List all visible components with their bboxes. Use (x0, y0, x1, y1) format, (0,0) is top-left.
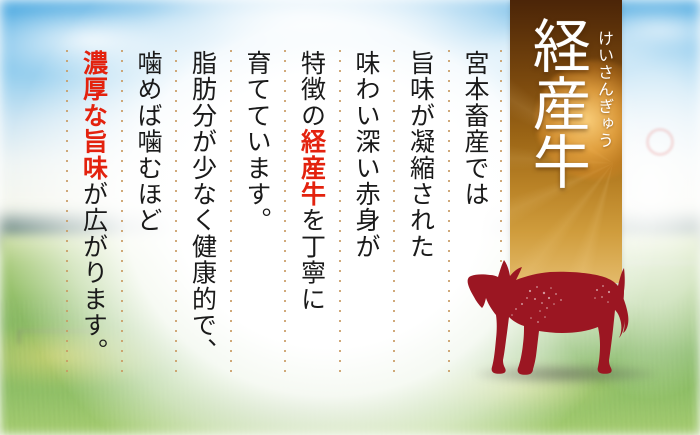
title-kanji: 経産牛 (524, 16, 590, 190)
copy-column-8-highlight: 濃厚な旨味 (80, 50, 109, 181)
copy-column-8-part-2: が広がります。 (80, 181, 109, 364)
copy-column-7: 噛めば噛むほど (121, 50, 176, 380)
title-banner: けいさんぎゅう 経産牛 (510, 0, 622, 283)
copy-column-8: 濃厚な旨味が広がります。 (66, 50, 121, 380)
copy-column-2: 旨味が凝縮された (393, 50, 448, 380)
copy-column-5: 育てています。 (230, 50, 285, 380)
cow-illustration (452, 246, 667, 396)
title-furigana: けいさんぎゅう (592, 30, 616, 149)
lens-flare-icon (646, 128, 674, 156)
copy-column-4: 特徴の経産牛を丁寧に (284, 50, 339, 380)
title-banner-content: けいさんぎゅう 経産牛 (510, 0, 622, 283)
copy-column-6: 脂肪分が少なく健康的で、 (175, 50, 230, 380)
copy-column-4-part-3: を丁寧に (298, 207, 327, 312)
body-copy: 宮本畜産では 旨味が凝縮された 味わい深い赤身が 特徴の経産牛を丁寧に 育ててい… (72, 50, 502, 380)
copy-column-4-part-1: 特徴の (298, 50, 327, 129)
promotional-poster: けいさんぎゅう 経産牛 宮本畜産では 旨味が凝縮された 味わい深い赤身が 特徴の… (0, 0, 700, 435)
cow-silhouette-icon (452, 246, 667, 396)
copy-column-4-highlight: 経産牛 (298, 129, 327, 208)
copy-column-3: 味わい深い赤身が (339, 50, 394, 380)
